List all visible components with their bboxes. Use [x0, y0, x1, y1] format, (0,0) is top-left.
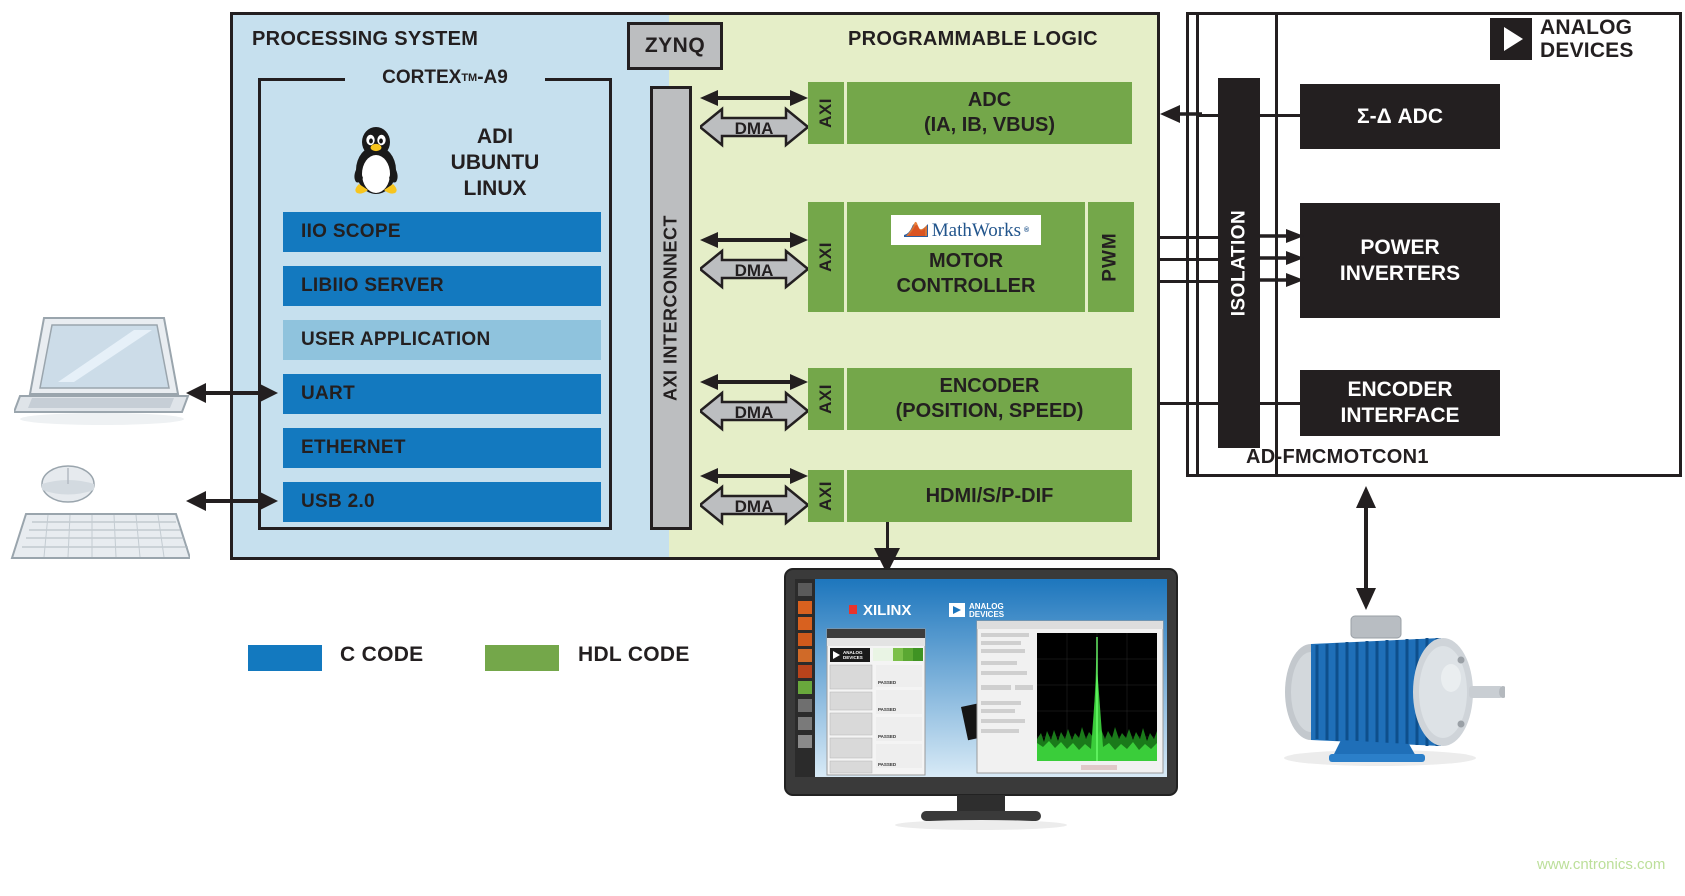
isolation-label: ISOLATION	[1226, 210, 1252, 317]
dma-group-hdmi: DMA	[700, 466, 808, 526]
bidirectional-arrow-icon	[700, 230, 808, 250]
pwm-line-1	[1157, 236, 1219, 239]
adi-word-analog: ANALOG	[1540, 16, 1634, 39]
encoder-interface-block[interactable]: ENCODER INTERFACE	[1300, 370, 1500, 436]
axi-interconnect-bar: AXI INTERCONNECT	[650, 86, 692, 530]
analog-devices-logo: ANALOG DEVICES	[1490, 14, 1675, 64]
dma-arrow-icon: DMA	[700, 106, 808, 148]
svg-text:DMA: DMA	[735, 497, 774, 516]
mathworks-membrane-icon	[903, 219, 929, 241]
legend-swatch-c-code	[248, 645, 322, 671]
axi-tab-label: AXI	[816, 98, 836, 128]
encoder-line-1: ENCODER	[939, 374, 1039, 399]
axi-tab-hdmi: AXI	[808, 470, 844, 522]
watermark-text: www.cntronics.com	[1537, 856, 1665, 873]
dma-arrow-icon: DMA	[700, 248, 808, 290]
cortex-a9-label: CORTEXTM-A9	[345, 62, 545, 94]
svg-text:PASSED: PASSED	[878, 707, 897, 712]
adc-feed-line-2	[1260, 114, 1305, 117]
laptop-illustration	[14, 312, 190, 432]
mathworks-logo: MathWorks®	[891, 215, 1041, 245]
motor-controller-line-1: MOTOR	[929, 249, 1003, 274]
svg-text:PASSED: PASSED	[878, 734, 897, 739]
isolation-block: ISOLATION	[1218, 78, 1260, 448]
motor-illustration	[1255, 608, 1505, 768]
axi-tab-adc: AXI	[808, 82, 844, 144]
svg-text:PASSED: PASSED	[878, 762, 897, 767]
power-inverters-line-2: INVERTERS	[1340, 261, 1460, 287]
pwm-line-2	[1157, 258, 1219, 261]
dma-group-adc: DMA	[700, 88, 808, 148]
monitor-illustration[interactable]: XILINX ANALOG DEVICES AD9671 ANALOG DEVI…	[781, 567, 1181, 832]
hdl-block-motor-controller[interactable]: MathWorks® MOTOR CONTROLLER	[847, 202, 1085, 312]
hdmi-line-1: HDMI/S/P-DIF	[926, 484, 1054, 509]
board-bus-line-1	[1196, 14, 1199, 474]
svg-text:DMA: DMA	[735, 403, 774, 422]
dma-group-encoder: DMA	[700, 372, 808, 432]
hdl-block-adc-row: AXI ADC (IA, IB, VBUS)	[808, 82, 1132, 144]
pwm-block[interactable]: PWM	[1088, 202, 1134, 312]
keyboard-mouse-illustration	[8, 462, 190, 566]
hdl-block-adc[interactable]: ADC (IA, IB, VBUS)	[847, 82, 1132, 144]
power-inverter-arrows-icon	[1260, 228, 1306, 292]
svg-text:PASSED: PASSED	[878, 680, 897, 685]
encoder-interface-line-2: INTERFACE	[1340, 403, 1459, 429]
bidirectional-arrow-icon	[700, 372, 808, 392]
adi-word-devices: DEVICES	[1540, 39, 1634, 62]
adi-triangle-mark-icon	[1490, 18, 1532, 60]
os-line-2: UBUNTU	[420, 150, 570, 176]
legend-label-hdl-code: HDL CODE	[578, 643, 690, 667]
hdl-block-encoder-row: AXI ENCODER (POSITION, SPEED)	[808, 368, 1132, 430]
fmc-board-label: AD-FMCMOTCON1	[1246, 446, 1429, 469]
cortex-label-post: -A9	[477, 67, 508, 89]
bidirectional-arrow-icon	[700, 466, 808, 486]
legend-label-c-code: C CODE	[340, 643, 423, 667]
hdl-block-hdmi[interactable]: HDMI/S/P-DIF	[847, 470, 1132, 522]
legend-swatch-hdl-code	[485, 645, 559, 671]
usb-bidirectional-arrow-icon	[186, 488, 278, 514]
mathworks-wordmark: MathWorks	[932, 218, 1021, 243]
axi-tab-motor-controller: AXI	[808, 202, 844, 312]
svg-text:DMA: DMA	[735, 261, 774, 280]
svg-text:DEVICES: DEVICES	[969, 610, 1005, 619]
processing-system-title: PROCESSING SYSTEM	[252, 28, 478, 51]
power-inverters-block[interactable]: POWER INVERTERS	[1300, 203, 1500, 318]
zynq-chip-label: ZYNQ	[627, 22, 723, 70]
stack-item-ethernet[interactable]: ETHERNET	[283, 428, 601, 468]
sigma-delta-adc-block[interactable]: Σ-Δ ADC	[1300, 84, 1500, 149]
motor-bidirectional-arrow-icon	[1353, 486, 1379, 610]
os-line-3: LINUX	[420, 176, 570, 202]
hdl-block-encoder[interactable]: ENCODER (POSITION, SPEED)	[847, 368, 1132, 430]
bidirectional-arrow-icon	[700, 88, 808, 108]
svg-text:DMA: DMA	[735, 119, 774, 138]
axi-interconnect-label: AXI INTERCONNECT	[661, 215, 682, 401]
os-name-label: ADI UBUNTU LINUX	[420, 124, 570, 202]
pwm-label: PWM	[1100, 232, 1122, 281]
encoder-interface-line-1: ENCODER	[1347, 377, 1452, 403]
adc-line-2: (IA, IB, VBUS)	[924, 113, 1055, 138]
adc-line-1: ADC	[968, 88, 1011, 113]
stack-item-usb-2-0[interactable]: USB 2.0	[283, 482, 601, 522]
encoder-feed-line	[1157, 402, 1302, 405]
svg-text:DEVICES: DEVICES	[843, 655, 863, 660]
stack-item-iio-scope[interactable]: IIO SCOPE	[283, 212, 601, 252]
linux-tux-icon	[345, 124, 407, 196]
dma-arrow-icon: DMA	[700, 484, 808, 526]
uart-bidirectional-arrow-icon	[186, 380, 278, 406]
axi-tab-label: AXI	[816, 481, 836, 511]
os-line-1: ADI	[420, 124, 570, 150]
motor-controller-line-2: CONTROLLER	[897, 274, 1036, 299]
power-inverters-line-1: POWER	[1360, 235, 1439, 261]
cortex-label-pre: CORTEX	[382, 67, 461, 89]
axi-tab-encoder: AXI	[808, 368, 844, 430]
hdl-block-motor-row: AXI MathWorks® MOTOR CONTROLLER PWM	[808, 202, 1134, 312]
programmable-logic-title: PROGRAMMABLE LOGIC	[848, 28, 1098, 51]
sigma-delta-adc-label: Σ-Δ ADC	[1357, 104, 1443, 130]
axi-tab-label: AXI	[816, 384, 836, 414]
dma-group-motor-controller: DMA	[700, 230, 808, 290]
svg-text:XILINX: XILINX	[863, 602, 911, 619]
stack-item-libiio-server[interactable]: LIBIIO SERVER	[283, 266, 601, 306]
dma-arrow-icon: DMA	[700, 390, 808, 432]
stack-item-user-application[interactable]: USER APPLICATION	[283, 320, 601, 360]
encoder-line-2: (POSITION, SPEED)	[896, 399, 1084, 424]
hdl-block-hdmi-row: AXI HDMI/S/P-DIF	[808, 470, 1132, 522]
stack-item-uart[interactable]: UART	[283, 374, 601, 414]
pwm-line-3	[1157, 280, 1219, 283]
trademark-superscript: TM	[461, 72, 477, 84]
axi-tab-label: AXI	[816, 242, 836, 272]
registered-trademark: ®	[1024, 218, 1029, 243]
